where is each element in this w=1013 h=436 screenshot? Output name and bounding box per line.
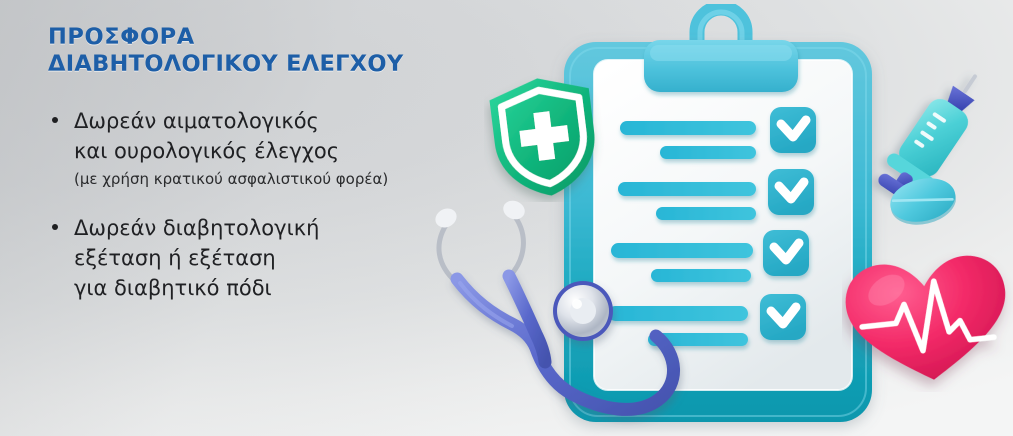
bullet-1-line-1: Δωρεάν αιματολογικός [74, 106, 518, 136]
checkbox-item [763, 230, 809, 276]
syringe-needle [962, 74, 978, 94]
clipboard-line [660, 146, 756, 159]
bullet-1-line-2: και ουρολογικός έλεγχος [74, 136, 518, 166]
clipboard-clip [644, 40, 798, 92]
checkbox-item [768, 169, 814, 215]
promo-text-column: ΠΡΟΣΦΟΡΑ ΔΙΑΒΗΤΟΛΟΓΙΚΟΥ ΕΛΕΓΧΟΥ Δωρεάν α… [48, 24, 518, 325]
promo-banner: ΠΡΟΣΦΟΡΑ ΔΙΑΒΗΤΟΛΟΓΙΚΟΥ ΕΛΕΓΧΟΥ Δωρεάν α… [0, 0, 1013, 436]
bullet-2-line-1: Δωρεάν διαβητολογική [74, 213, 518, 243]
page-title: ΠΡΟΣΦΟΡΑ ΔΙΑΒΗΤΟΛΟΓΙΚΟΥ ΕΛΕΓΧΟΥ [48, 24, 518, 78]
list-item: Δωρεάν αιματολογικός και ουρολογικός έλε… [48, 106, 518, 191]
list-item: Δωρεάν διαβητολογική εξέταση ή εξέταση γ… [48, 213, 518, 303]
clipboard-line [620, 121, 756, 135]
offer-list: Δωρεάν αιματολογικός και ουρολογικός έλε… [48, 106, 518, 303]
checkbox-item [760, 294, 806, 340]
bullet-1-note: (με χρήση κρατικού ασφαλιστικού φορέα) [74, 167, 518, 191]
stethoscope-chestpiece [553, 281, 613, 341]
headline-line-1: ΠΡΟΣΦΟΡΑ [48, 24, 518, 51]
bullet-2-line-2: εξέταση ή εξέταση [74, 243, 518, 273]
heart-icon [842, 252, 1013, 392]
checkbox-item [770, 107, 816, 153]
pill-icon [884, 172, 962, 230]
headline-line-2: ΔΙΑΒΗΤΟΛΟΓΙΚΟΥ ΕΛΕΓΧΟΥ [48, 51, 518, 78]
bullet-2-line-3: για διαβητικό πόδι [74, 273, 518, 303]
